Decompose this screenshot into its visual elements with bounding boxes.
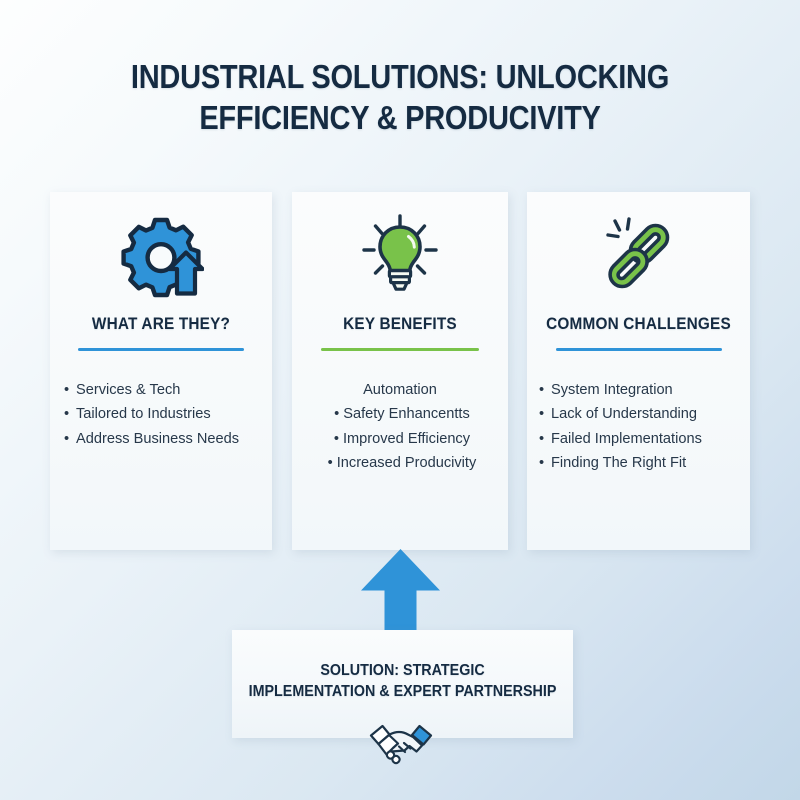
list-item: Increased Producivity — [292, 451, 508, 475]
lightbulb-icon — [292, 206, 508, 306]
list-item: Safety Enhancentts — [292, 402, 508, 426]
list-item: Address Business Needs — [50, 427, 272, 451]
solution-text: SOLUTION: STRATEGIC IMPLEMENTATION & EXP… — [232, 660, 573, 702]
card-heading-what-are-they: WHAT ARE THEY? — [58, 315, 264, 334]
list-item: Failed Implementations — [527, 427, 750, 451]
list-item: Services & Tech — [50, 378, 272, 402]
list-item: Lack of Understanding — [527, 402, 750, 426]
card-heading-key-benefits: KEY BENEFITS — [300, 315, 501, 334]
handshake-icon — [368, 722, 434, 766]
card-heading-common-challenges: COMMON CHALLENGES — [535, 315, 742, 334]
solution-line-1: SOLUTION: STRATEGIC — [244, 660, 561, 681]
list-item: Improved Efficiency — [292, 427, 508, 451]
broken-chain-link-icon — [527, 206, 750, 306]
card-what-are-they: WHAT ARE THEY? Services & Tech Tailored … — [50, 192, 272, 550]
page-title-line-2: EFFICIENCY & PRODUCIVITY — [48, 97, 752, 138]
list-item: System Integration — [527, 378, 750, 402]
page-title: INDUSTRIAL SOLUTIONS: UNLOCKING EFFICIEN… — [0, 56, 800, 138]
card-list-what-are-they: Services & Tech Tailored to Industries A… — [50, 378, 272, 451]
gear-with-up-arrow-icon — [50, 206, 272, 306]
card-list-key-benefits: Automation Safety Enhancentts Improved E… — [292, 378, 508, 475]
card-common-challenges: COMMON CHALLENGES System Integration Lac… — [527, 192, 750, 550]
list-item: Automation — [292, 378, 508, 402]
infographic-canvas: INDUSTRIAL SOLUTIONS: UNLOCKING EFFICIEN… — [0, 0, 800, 800]
solution-line-2: IMPLEMENTATION & EXPERT PARTNERSHIP — [244, 681, 561, 702]
list-item: Finding The Right Fit — [527, 451, 750, 475]
card-accent-rule — [78, 348, 244, 351]
card-list-common-challenges: System Integration Lack of Understanding… — [527, 378, 750, 475]
card-accent-rule — [556, 348, 722, 351]
list-item: Tailored to Industries — [50, 402, 272, 426]
page-title-line-1: INDUSTRIAL SOLUTIONS: UNLOCKING — [48, 56, 752, 97]
card-accent-rule — [321, 348, 479, 351]
card-key-benefits: KEY BENEFITS Automation Safety Enhancent… — [292, 192, 508, 550]
